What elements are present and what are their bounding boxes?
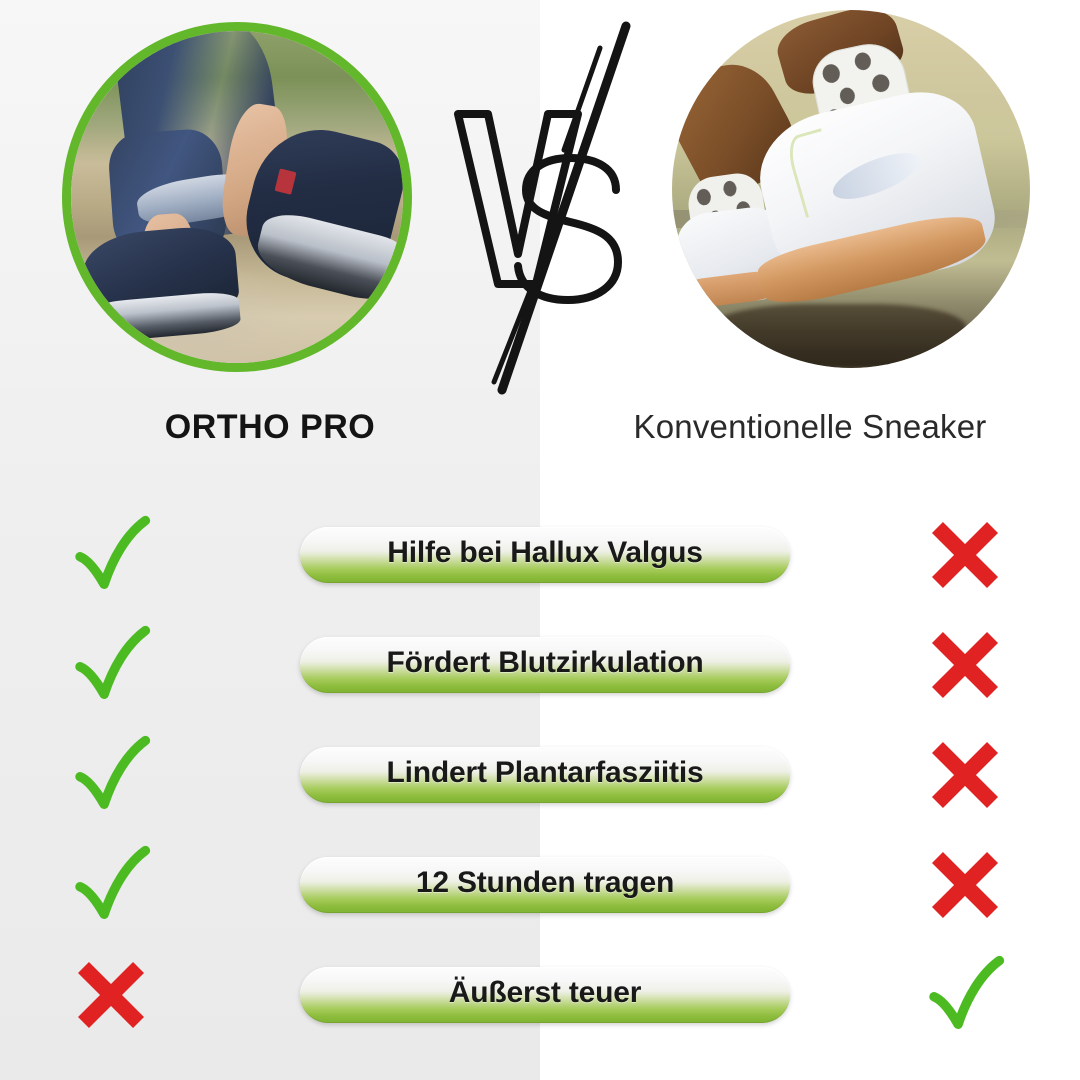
feature-pill: Lindert Plantarfasziitis (300, 747, 790, 803)
feature-pill: Äußerst teuer (300, 967, 790, 1023)
sneaker-image (672, 10, 1030, 368)
product-photo-ortho-pro (62, 22, 412, 372)
table-row: Lindert Plantarfasziitis (0, 720, 1080, 830)
ortho-pro-image (71, 31, 403, 363)
feature-label: 12 Stunden tragen (416, 866, 674, 900)
feature-label: Äußerst teuer (449, 976, 641, 1010)
check-icon (68, 622, 154, 708)
vs-icon (440, 18, 660, 398)
cross-icon (922, 842, 1008, 928)
check-icon (68, 842, 154, 928)
table-row: 12 Stunden tragen (0, 830, 1080, 940)
page-title-conventional-sneaker: Konventionelle Sneaker (540, 404, 1080, 450)
feature-label: Lindert Plantarfasziitis (387, 756, 704, 790)
check-icon (68, 512, 154, 598)
table-row: Fördert Blutzirkulation (0, 610, 1080, 720)
feature-label: Fördert Blutzirkulation (386, 646, 703, 680)
product-photo-conventional-sneaker (672, 10, 1030, 368)
comparison-table: Hilfe bei Hallux Valgus Fördert Blutzirk… (0, 500, 1080, 1050)
feature-pill: 12 Stunden tragen (300, 857, 790, 913)
cross-icon (922, 732, 1008, 818)
cross-icon (68, 952, 154, 1038)
check-icon (68, 732, 154, 818)
table-row: Hilfe bei Hallux Valgus (0, 500, 1080, 610)
page-title-ortho-pro: ORTHO PRO (0, 404, 540, 450)
table-row: Äußerst teuer (0, 940, 1080, 1050)
cross-icon (922, 512, 1008, 598)
hero-section: ORTHO PRO Konventionelle Sneaker (0, 0, 1080, 400)
feature-pill: Fördert Blutzirkulation (300, 637, 790, 693)
check-icon (922, 952, 1008, 1038)
feature-label: Hilfe bei Hallux Valgus (387, 536, 703, 570)
comparison-poster: ORTHO PRO Konventionelle Sneaker Hilfe b… (0, 0, 1080, 1080)
cross-icon (922, 622, 1008, 708)
wet-ground-shadow (708, 304, 966, 368)
feature-pill: Hilfe bei Hallux Valgus (300, 527, 790, 583)
versus-badge (440, 18, 660, 398)
